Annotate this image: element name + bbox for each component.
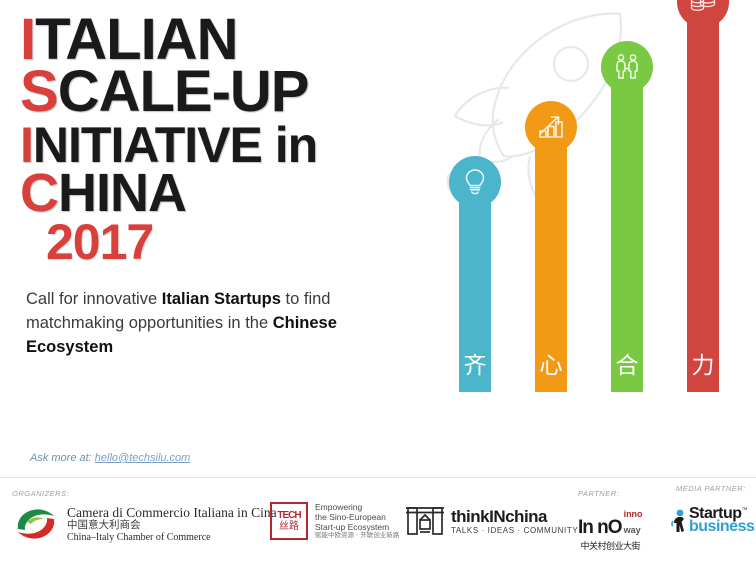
title-acronym-letter-s: S [20, 59, 58, 124]
gate-character-icon [405, 504, 445, 538]
thinkinchina-tagline: TALKS · IDEAS · COMMUNITY [451, 527, 578, 535]
thinkinchina-name: thinkINchina [451, 508, 578, 525]
ccic-line-1: Camera di Commercio Italiana in Cina [67, 505, 277, 520]
growth-chart-icon [536, 112, 566, 142]
bar-column-1: 齐 [459, 196, 491, 392]
bar-column-3: 合 [611, 81, 643, 392]
subtitle-bold-italian-startups: Italian Startups [162, 290, 281, 308]
ccic-line-2: 中国意大利商会 [67, 520, 277, 532]
innoway-way: way [624, 525, 641, 535]
organizers-label: ORGANIZERS: [12, 489, 69, 498]
logo-camera-di-commercio[interactable]: Camera di Commercio Italiana in Cina 中国意… [12, 503, 277, 545]
contact-email-link[interactable]: hello@techsilu.com [95, 452, 191, 464]
logo-tech-silu[interactable]: TECH 丝路 Empowering the Sino-European Sta… [270, 502, 399, 540]
contact-prefix: Ask more at: [30, 452, 95, 464]
innoway-side: inno way [624, 505, 643, 537]
tech-silu-icon: TECH 丝路 [270, 502, 308, 540]
logo-thinkinchina[interactable]: thinkINchina TALKS · IDEAS · COMMUNITY [405, 504, 578, 538]
partner-label: PARTNER: [578, 489, 619, 498]
startup-business-line-2: business [689, 519, 754, 535]
contact-line: Ask more at: hello@techsilu.com [30, 452, 190, 464]
poster-title: ITALIAN SCALE-UP INITIATIVE in CHINA 201… [20, 12, 440, 267]
ccic-swoosh-icon [12, 503, 60, 545]
startup-business-text: Startup™ business [689, 506, 754, 535]
tech-silu-tag-1: Empowering [315, 502, 399, 512]
bar-3-glyph: 合 [611, 355, 643, 378]
coins-icon [688, 0, 718, 17]
bar-3-circle [601, 41, 653, 93]
title-line-4: CHINA [20, 167, 440, 219]
running-person-icon [670, 508, 688, 534]
tech-silu-tag-cn: 赋能中欧资源 · 开联创业新路 [315, 532, 399, 540]
logo-startup-business[interactable]: Startup™ business [670, 506, 754, 535]
media-partner-label: MEDIA PARTNER: [676, 484, 746, 494]
tech-silu-tagline: Empowering the Sino-European Start-up Ec… [315, 502, 399, 540]
innoway-main: In nO [578, 518, 622, 537]
bar-4-circle [677, 0, 729, 28]
title-line-2-rest: CALE-UP [58, 59, 309, 124]
title-line-3: INITIATIVE in [20, 121, 440, 170]
footer: ORGANIZERS: Camera di Commercio Italiana… [0, 478, 756, 562]
ccic-text-block: Camera di Commercio Italiana in Cina 中国意… [67, 505, 277, 543]
bar-column-4: 力 [687, 16, 719, 392]
startup-business-tm: ™ [742, 508, 748, 514]
poster-subtitle: Call for innovative Italian Startups to … [26, 288, 406, 360]
tech-silu-mark-top: TECH [277, 511, 300, 521]
bar-column-2: 心 [535, 141, 567, 392]
thinkinchina-text: thinkINchina TALKS · IDEAS · COMMUNITY [451, 508, 578, 535]
bar-2-circle [525, 101, 577, 153]
innoway-row: In nO inno way [578, 505, 643, 537]
bar-1-glyph: 齐 [459, 355, 491, 378]
title-line-2: SCALE-UP [20, 64, 440, 120]
bar-2-glyph: 心 [535, 355, 567, 378]
ccic-line-3: China–Italy Chamber of Commerce [67, 532, 277, 543]
bar-1-circle [449, 156, 501, 208]
lightbulb-icon [460, 167, 490, 197]
bar-4-glyph: 力 [687, 355, 719, 378]
tech-silu-tag-2: the Sino-European [315, 512, 399, 522]
subtitle-part-1: Call for innovative [26, 290, 162, 308]
handshake-icon [612, 52, 642, 82]
poster-canvas: ITALIAN SCALE-UP INITIATIVE in CHINA 201… [0, 0, 756, 562]
innoway-chinese: 中关村创业大街 [581, 539, 641, 552]
tech-silu-mark-bottom: 丝路 [279, 522, 299, 532]
title-year: 2017 [20, 217, 440, 267]
innoway-inno: inno [624, 509, 643, 519]
logo-innoway[interactable]: In nO inno way 中关村创业大街 [578, 505, 643, 552]
